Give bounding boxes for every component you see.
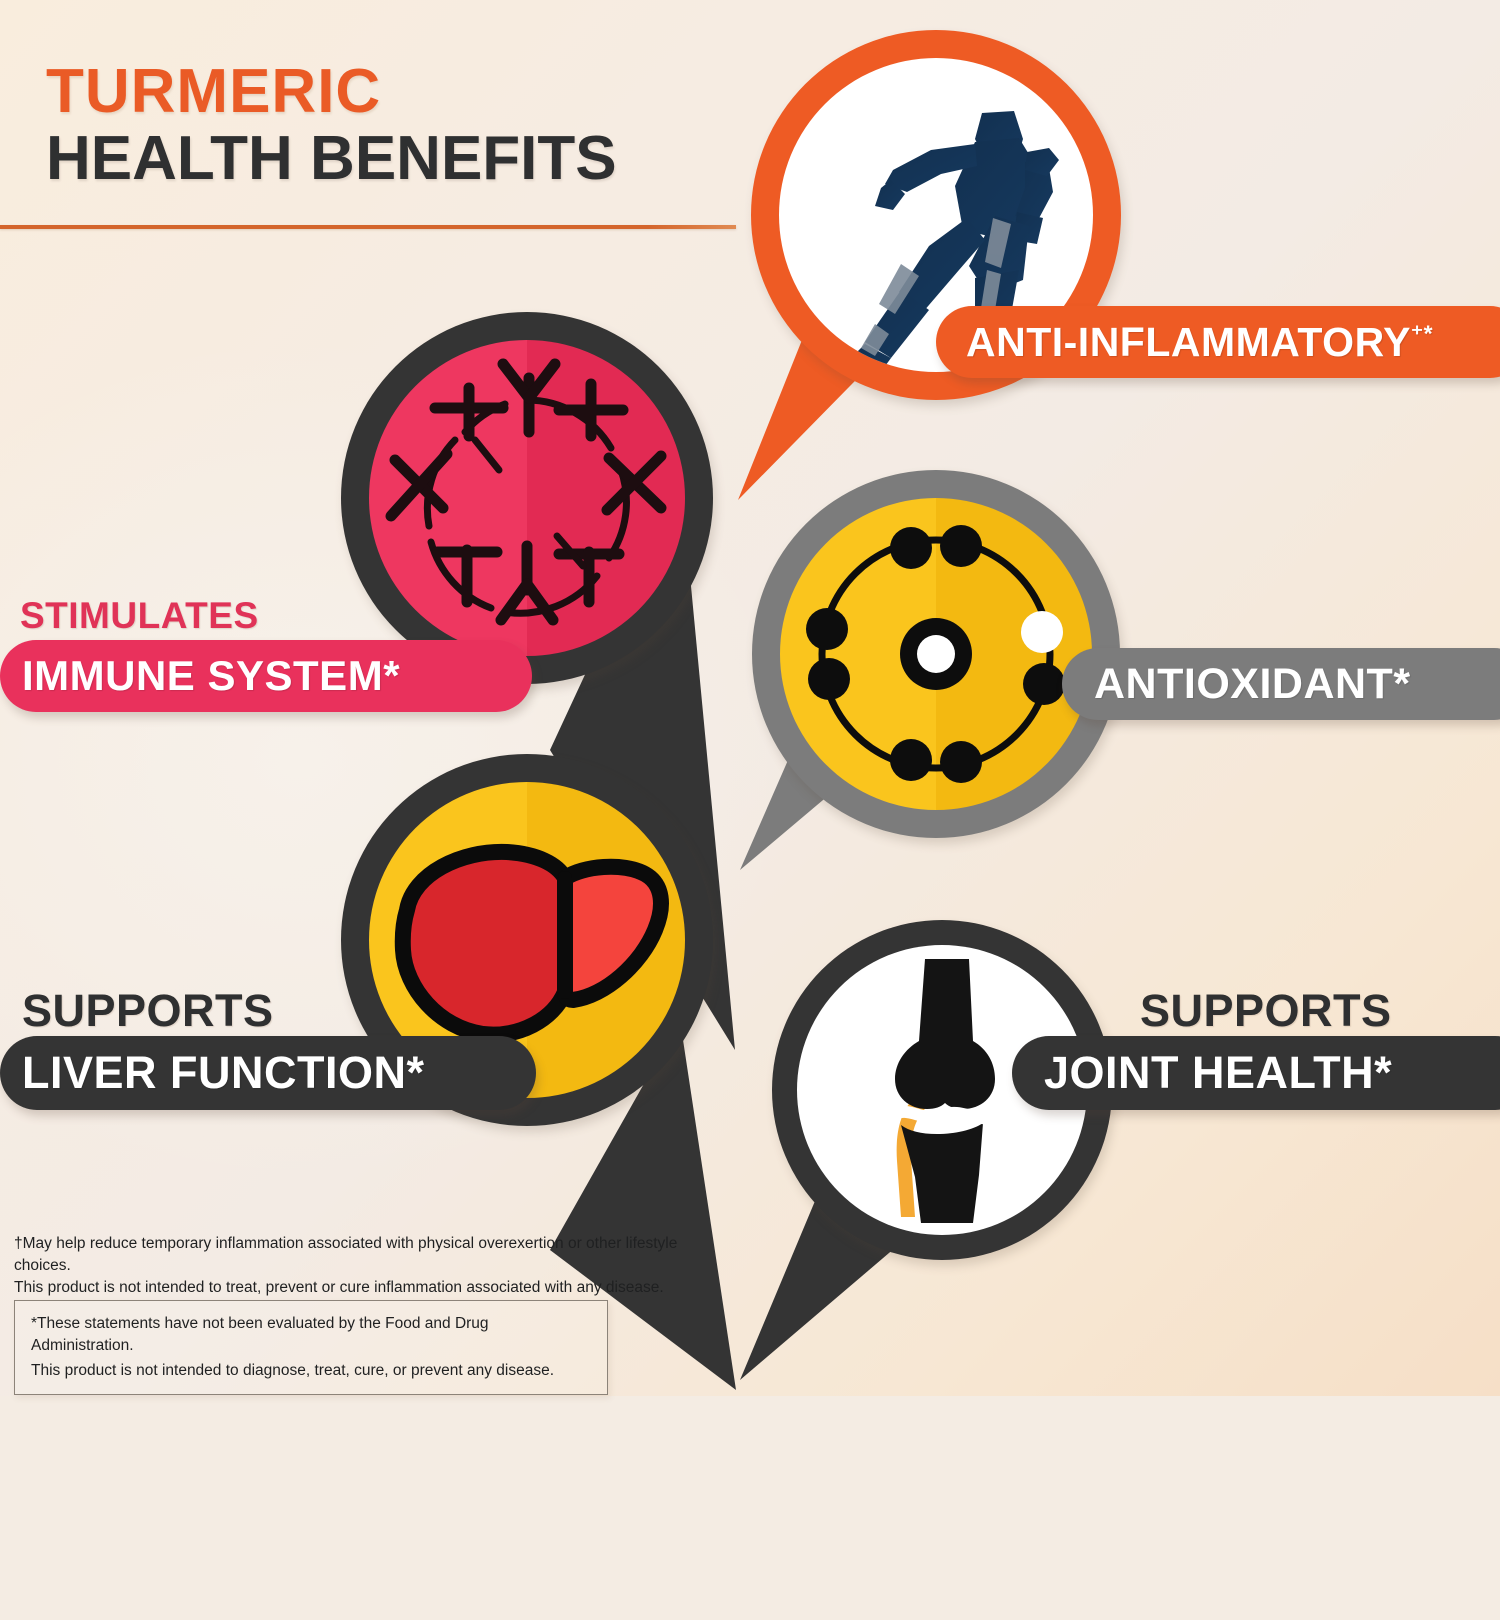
benefit-prelabel-joint-health: SUPPORTS (1140, 985, 1392, 1037)
label-text-liver-function: LIVER FUNCTION (22, 1047, 407, 1098)
benefit-label-immune-system[interactable]: IMMUNE SYSTEM* (0, 640, 532, 712)
atom-icon (780, 498, 1092, 810)
title-line-health-benefits: HEALTH BENEFITS (46, 127, 617, 190)
bubble-icon-area-antioxidant (780, 498, 1092, 810)
title-divider-rule (0, 225, 736, 229)
virus-antibody-icon (369, 340, 685, 656)
benefit-label-joint-health[interactable]: JOINT HEALTH* (1012, 1036, 1500, 1110)
label-text-joint-health: JOINT HEALTH (1044, 1047, 1374, 1098)
label-superscript-anti-inflammatory: ⁺* (1411, 320, 1433, 346)
footnote-dagger-line1: †May help reduce temporary inflammation … (14, 1233, 730, 1277)
footnote-dagger-line2: This product is not intended to treat, p… (14, 1277, 730, 1299)
footnote-asterisk-box: *These statements have not been evaluate… (14, 1300, 608, 1395)
label-superscript-antioxidant: * (1393, 660, 1410, 708)
bubble-icon-area-immune-system (369, 340, 685, 656)
label-text-immune-system: IMMUNE SYSTEM (22, 652, 383, 699)
label-superscript-immune-system: * (383, 652, 400, 699)
label-text-antioxidant: ANTIOXIDANT (1094, 660, 1393, 708)
footnote-asterisk-line2: This product is not intended to diagnose… (31, 1360, 593, 1382)
benefit-label-anti-inflammatory[interactable]: ANTI-INFLAMMATORY⁺* (936, 306, 1500, 378)
label-superscript-liver-function: * (407, 1047, 425, 1098)
infographic-root: TURMERIC HEALTH BENEFITS (0, 0, 1500, 1396)
benefit-label-antioxidant[interactable]: ANTIOXIDANT* (1062, 648, 1500, 720)
page-title: TURMERIC HEALTH BENEFITS (46, 62, 617, 190)
footnote-asterisk-line1: *These statements have not been evaluate… (31, 1313, 593, 1358)
benefit-prelabel-liver-function: SUPPORTS (22, 985, 274, 1037)
benefit-label-liver-function[interactable]: LIVER FUNCTION* (0, 1036, 536, 1110)
label-text-anti-inflammatory: ANTI-INFLAMMATORY (966, 319, 1411, 365)
label-superscript-joint-health: * (1374, 1047, 1392, 1098)
footnote-dagger: †May help reduce temporary inflammation … (14, 1233, 730, 1299)
title-line-turmeric: TURMERIC (46, 62, 617, 123)
